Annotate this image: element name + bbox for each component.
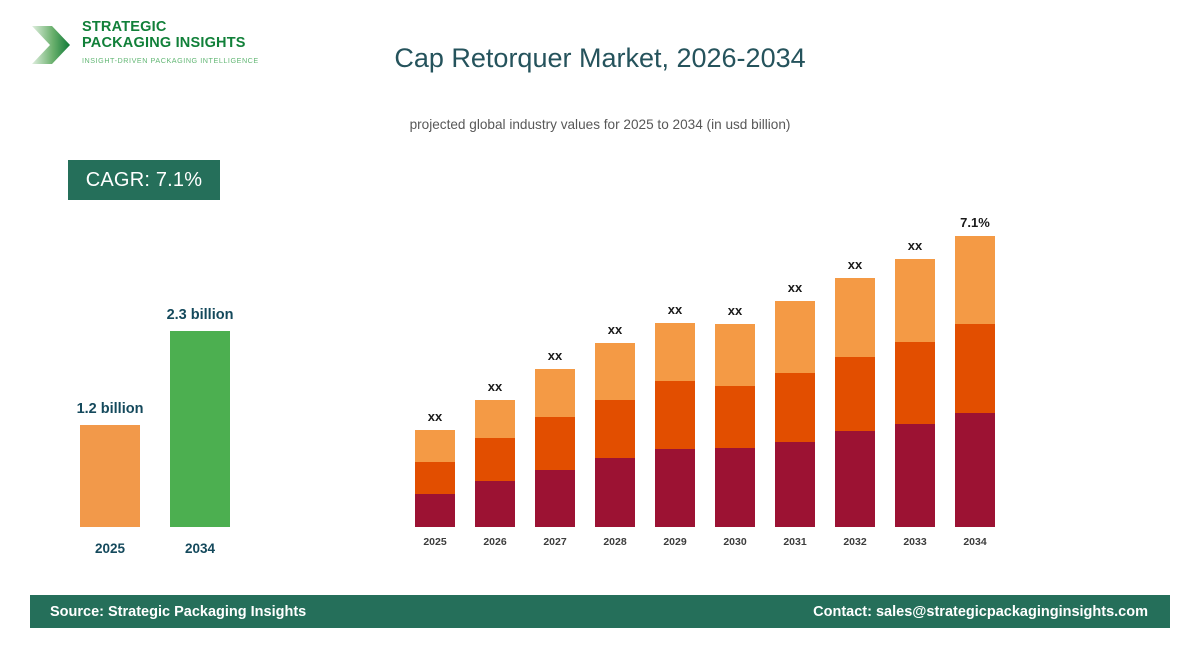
stacked-bar-top-label: xx xyxy=(825,257,885,272)
segment-stacked-forecast-chart: xx2025xx2026xx2027xx2028xx2029xx2030xx20… xyxy=(400,190,1020,560)
stacked-axis-label: 2027 xyxy=(525,536,585,548)
stacked-bar-segment xyxy=(535,369,575,417)
stacked-bar-group: xx2029 xyxy=(655,190,695,560)
stacked-bar-segment xyxy=(415,462,455,494)
stacked-bar-group: xx2030 xyxy=(715,190,755,560)
stacked-bar-segment xyxy=(415,494,455,527)
stacked-bar xyxy=(535,369,575,527)
stacked-bar-segment xyxy=(835,278,875,357)
footer-contact-text: Contact: sales@strategicpackaginginsight… xyxy=(813,595,1148,628)
stacked-bar-segment xyxy=(895,342,935,424)
stacked-axis-label: 2026 xyxy=(465,536,525,548)
stacked-bar-segment xyxy=(775,301,815,373)
stacked-bar xyxy=(415,430,455,527)
stacked-bar-segment xyxy=(715,324,755,386)
stacked-bar xyxy=(895,259,935,527)
stacked-bar-segment xyxy=(475,438,515,481)
stacked-bar-group: 7.1%2034 xyxy=(955,190,995,560)
stacked-bar-segment xyxy=(955,236,995,324)
stacked-bar xyxy=(775,301,815,527)
cagr-badge: CAGR: 7.1% xyxy=(68,160,220,200)
stacked-bar-group: xx2032 xyxy=(835,190,875,560)
stacked-bar-group: xx2026 xyxy=(475,190,515,560)
stacked-bar-segment xyxy=(595,343,635,400)
stacked-bar-segment xyxy=(535,470,575,527)
stacked-bar-segment xyxy=(415,430,455,462)
stacked-bar-segment xyxy=(715,386,755,448)
stacked-bar-segment xyxy=(955,324,995,413)
page-title: Cap Retorquer Market, 2026-2034 xyxy=(300,43,900,74)
footer-bar: Source: Strategic Packaging Insights Con… xyxy=(30,595,1170,628)
stacked-bar-group: xx2033 xyxy=(895,190,935,560)
stacked-axis-label: 2028 xyxy=(585,536,645,548)
comparison-axis-label: 2034 xyxy=(170,541,230,556)
stacked-bar-segment xyxy=(775,373,815,442)
stacked-bar-top-label: xx xyxy=(525,348,585,363)
stacked-bar xyxy=(715,324,755,527)
stacked-bar xyxy=(655,323,695,527)
stacked-bar xyxy=(955,236,995,527)
brand-tagline: INSIGHT-DRIVEN PACKAGING INTELLIGENCE xyxy=(82,56,292,65)
stacked-axis-label: 2025 xyxy=(405,536,465,548)
stacked-axis-label: 2030 xyxy=(705,536,765,548)
stacked-bar-segment xyxy=(475,481,515,527)
stacked-bar xyxy=(595,343,635,527)
comparison-axis-label: 2025 xyxy=(80,541,140,556)
stacked-bar-top-label: xx xyxy=(705,303,765,318)
stacked-bar-segment xyxy=(475,400,515,438)
stacked-axis-label: 2033 xyxy=(885,536,945,548)
comparison-bar xyxy=(170,331,230,527)
chart-infographic-page: STRATEGIC PACKAGING INSIGHTS INSIGHT-DRI… xyxy=(0,0,1200,650)
stacked-bar-segment xyxy=(835,357,875,431)
stacked-axis-label: 2034 xyxy=(945,536,1005,548)
stacked-bar-top-label: xx xyxy=(405,409,465,424)
stacked-bar-segment xyxy=(595,458,635,527)
stacked-bar-segment xyxy=(715,448,755,527)
endpoint-comparison-chart: 1.2 billion20252.3 billion2034 xyxy=(50,310,280,560)
stacked-bar xyxy=(835,278,875,527)
stacked-bar-top-label: xx xyxy=(885,238,945,253)
stacked-bar-group: xx2025 xyxy=(415,190,455,560)
brand-name-line1: STRATEGIC xyxy=(82,20,292,36)
brand-wordmark: STRATEGIC PACKAGING INSIGHTS INSIGHT-DRI… xyxy=(82,20,292,65)
stacked-bar xyxy=(475,400,515,527)
stacked-bar-segment xyxy=(655,449,695,527)
stacked-bar-segment xyxy=(775,442,815,527)
footer-source-text: Source: Strategic Packaging Insights xyxy=(50,595,306,628)
brand-name-line2: PACKAGING INSIGHTS xyxy=(82,36,292,52)
green-chevron-icon xyxy=(30,22,76,68)
stacked-bar-top-label: xx xyxy=(585,322,645,337)
comparison-bar xyxy=(80,425,140,527)
stacked-bar-segment xyxy=(955,413,995,527)
stacked-bar-top-label: xx xyxy=(765,280,825,295)
stacked-bar-top-label: 7.1% xyxy=(945,215,1005,230)
stacked-bar-segment xyxy=(655,323,695,381)
stacked-axis-label: 2029 xyxy=(645,536,705,548)
stacked-bar-segment xyxy=(595,400,635,458)
stacked-bar-segment xyxy=(895,259,935,342)
brand-logo: STRATEGIC PACKAGING INSIGHTS INSIGHT-DRI… xyxy=(30,16,290,78)
stacked-bar-segment xyxy=(535,417,575,470)
stacked-axis-label: 2032 xyxy=(825,536,885,548)
stacked-bar-top-label: xx xyxy=(465,379,525,394)
stacked-bar-group: xx2027 xyxy=(535,190,575,560)
stacked-bar-segment xyxy=(655,381,695,449)
stacked-bar-segment xyxy=(835,431,875,527)
comparison-bar-value-label: 1.2 billion xyxy=(50,401,170,417)
stacked-bar-top-label: xx xyxy=(645,302,705,317)
stacked-axis-label: 2031 xyxy=(765,536,825,548)
stacked-bar-group: xx2028 xyxy=(595,190,635,560)
stacked-bar-segment xyxy=(895,424,935,527)
stacked-bar-group: xx2031 xyxy=(775,190,815,560)
comparison-bar-value-label: 2.3 billion xyxy=(140,307,260,323)
page-subtitle: projected global industry values for 202… xyxy=(300,117,900,132)
